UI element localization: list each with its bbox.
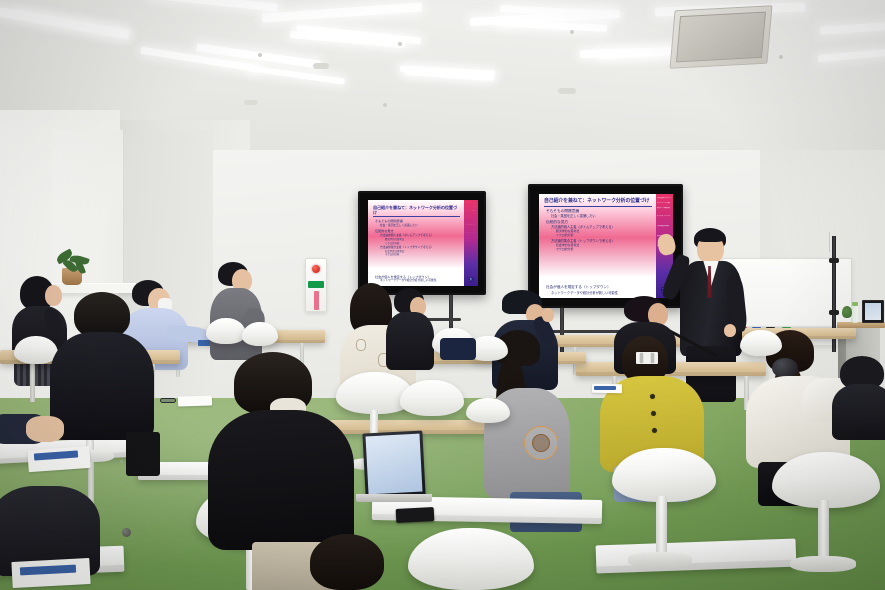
band-line: 研究テーマ一覧 (465, 232, 477, 234)
slide-left: 自己紹介を兼ねて：ネットワーク分析の位置づけ そもそもの問題意識 社会・集団を正… (368, 200, 478, 286)
slide-bullet: ネットワークデータや統計分析が新しい可能性 (551, 291, 652, 295)
torso (386, 312, 434, 370)
eyeglasses (160, 398, 176, 403)
torso (50, 332, 154, 440)
slide-title: 自己紹介を兼ねて：ネットワーク分析の位置づけ (373, 205, 460, 217)
presenter-fringe (696, 230, 725, 242)
laptop-screen (366, 434, 423, 495)
band-line: 研究室紹介セミナー (465, 202, 477, 204)
slide-title: 自己紹介を兼ねて：ネットワーク分析の位置づけ (544, 199, 652, 207)
band-line: 問い合わせ (465, 240, 477, 242)
laptop-keyboard[interactable] (356, 494, 432, 502)
pole-clamp (829, 258, 839, 263)
band-line: ネットワーク分析 (657, 202, 672, 204)
bottle-cap (852, 302, 858, 306)
slide-logo: 大 (468, 277, 473, 282)
emergency-label (314, 291, 319, 310)
classroom-scene: 自己紹介を兼ねて：ネットワーク分析の位置づけ そもそもの問題意識 社会・集団を正… (0, 0, 885, 590)
torso (832, 384, 885, 440)
ceiling-sensor (570, 30, 574, 34)
sweatshirt-graphic-inner (532, 434, 550, 452)
laptop[interactable] (362, 430, 425, 497)
slide-bullet: 伝統的な見方 (375, 229, 460, 233)
slide-bullet: ネットワークデータや統計分析が新しい可能性 (380, 279, 460, 283)
desk-caster (122, 528, 131, 537)
ac-vent (670, 5, 773, 68)
slide-footer-bullets: 社会が個人を規定する（トップダウン） ネットワークデータや統計分析が新しい可能性 (544, 285, 652, 295)
hair (310, 534, 384, 590)
slide-bullet: 社会・集団を正しく認識したい (551, 214, 652, 218)
band-line: 大学院 進学説明 (657, 225, 672, 227)
chair-stem (818, 500, 829, 562)
ceiling-speaker (244, 100, 258, 105)
bag (126, 432, 160, 476)
wall-alcove (52, 130, 124, 290)
hands-clasped (26, 416, 64, 442)
slide-bullet: マクロ的分析 (385, 253, 460, 256)
chair[interactable] (242, 322, 278, 346)
hair-clip-bar (651, 353, 654, 363)
band-line: 大学院 進学説明 (465, 224, 477, 226)
chair-base (790, 556, 856, 572)
slide-body: 自己紹介を兼ねて：ネットワーク分析の位置づけ そもそもの問題意識 社会・集団を正… (368, 200, 464, 286)
small-plant (842, 306, 852, 318)
handout-paper (178, 395, 212, 406)
hanging-wire (829, 232, 830, 252)
ceiling-speaker (558, 88, 576, 94)
smartphone[interactable] (396, 507, 435, 523)
band-line: データサイエンス (657, 215, 672, 217)
emergency-button-icon[interactable] (312, 265, 320, 273)
chair-base (628, 552, 692, 568)
slide-footer-bullets: 社会が個人を規定する（トップダウン） ネットワークデータや統計分析が新しい可能性 (373, 275, 460, 283)
jacket-pattern (356, 339, 366, 351)
confidence-monitor[interactable] (862, 300, 884, 323)
band-line: 社会学・計量分析 (465, 210, 477, 212)
slide-bullet: マクロ的分析 (556, 248, 652, 252)
slide-bullet: 社会が個人を規定する（トップダウン） (546, 285, 652, 290)
band-line: ネットワーク分析 (465, 206, 477, 208)
handout-cover (594, 386, 616, 390)
slide-bullet: そもそもの問題意識 (375, 219, 460, 223)
pole-clamp (829, 310, 839, 315)
ceiling-sensor (258, 53, 262, 57)
hair-clip-bar (640, 353, 643, 363)
ceiling-speaker (313, 63, 329, 69)
bag (440, 338, 476, 360)
band-line: データサイエンス (465, 216, 477, 218)
band-line: 社会学・計量分析 (657, 207, 672, 209)
torso (208, 410, 354, 550)
hand (542, 308, 554, 322)
hair-scrunchie (772, 358, 798, 378)
ceiling-sensor (398, 42, 402, 46)
band-line: 研究室紹介セミナー (657, 197, 672, 199)
water-bottle (852, 305, 858, 323)
chair-stem (656, 496, 667, 558)
ceiling-sensor (779, 55, 783, 59)
desk-leg (30, 364, 35, 402)
slide-bullet: そもそもの問題意識 (546, 209, 652, 214)
cardigan-button (650, 394, 655, 399)
cardigan-button (651, 411, 656, 416)
slide-bullet: ミクロ的分析 (556, 234, 652, 238)
slide-body: 自己紹介を兼ねて：ネットワーク分析の位置づけ そもそもの問題意識 社会・集団を正… (539, 194, 656, 298)
chair[interactable] (206, 318, 246, 344)
head (45, 285, 62, 306)
left-display[interactable]: 自己紹介を兼ねて：ネットワーク分析の位置づけ そもそもの問題意識 社会・集団を正… (358, 191, 486, 295)
presenter-hand (724, 324, 736, 337)
slide-bullet: 社会・集団を正しく認識したい (380, 224, 460, 228)
ceiling-sensor (383, 103, 387, 107)
slide-bullet: ミクロ的分析 (385, 242, 460, 245)
chair[interactable] (740, 330, 782, 356)
exit-sign-icon (308, 281, 324, 288)
floor-speck (120, 460, 123, 463)
slide-right: 自己紹介を兼ねて：ネットワーク分析の位置づけ そもそもの問題意識 社会・集団を正… (539, 194, 673, 298)
chair[interactable] (466, 398, 510, 423)
slide-side-band: 研究室紹介セミナー ネットワーク分析 社会学・計量分析 データサイエンス 大学院… (464, 200, 478, 286)
cardigan-button (652, 428, 657, 433)
chair[interactable] (400, 380, 464, 416)
